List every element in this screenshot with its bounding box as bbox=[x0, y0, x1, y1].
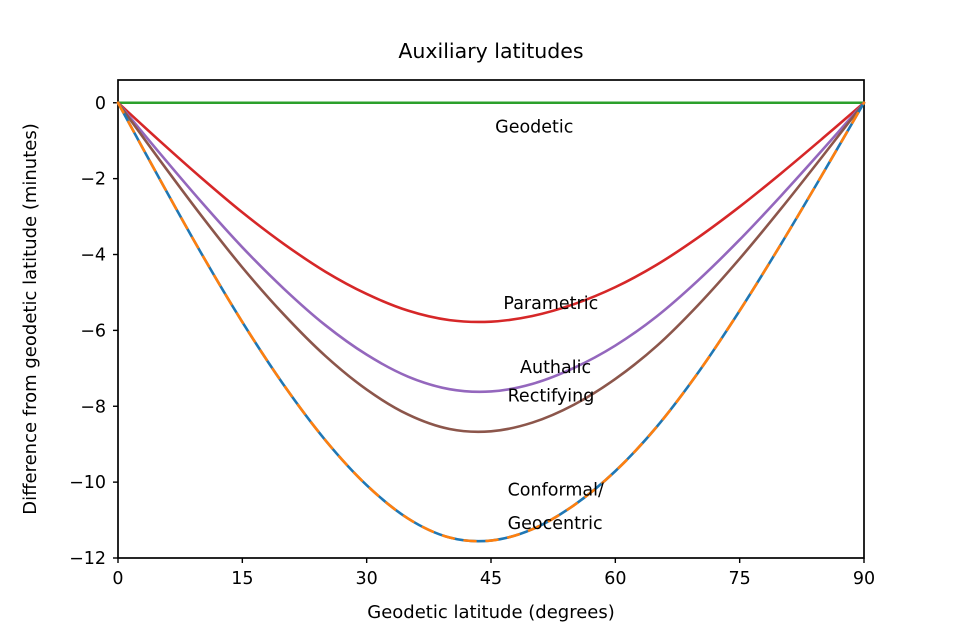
x-tick-label: 30 bbox=[356, 569, 378, 589]
x-tick-label: 90 bbox=[853, 569, 875, 589]
y-axis-label: Difference from geodetic latitude (minut… bbox=[20, 123, 41, 515]
annotation-geodetic: Geodetic bbox=[495, 117, 573, 137]
x-tick-label: 45 bbox=[480, 569, 502, 589]
curve-authalic bbox=[118, 103, 864, 392]
y-tick-label: −10 bbox=[69, 473, 106, 493]
x-tick-label: 60 bbox=[604, 569, 626, 589]
y-tick-label: −4 bbox=[80, 246, 106, 266]
y-tick-label: −6 bbox=[80, 321, 106, 341]
annotation-geocentric: Geocentric bbox=[508, 514, 603, 534]
annotation-authalic: Authalic bbox=[520, 358, 591, 378]
chart-figure: Auxiliary latitudes 01530456075900−2−4−6… bbox=[0, 0, 960, 640]
x-tick-label: 75 bbox=[729, 569, 751, 589]
y-tick-label: −12 bbox=[69, 549, 106, 569]
annotation-rectifying: Rectifying bbox=[508, 387, 595, 407]
x-tick-label: 15 bbox=[231, 569, 253, 589]
annotation-conformal: Conformal/ bbox=[508, 481, 604, 501]
x-tick-label: 0 bbox=[112, 569, 123, 589]
axes: 01530456075900−2−4−6−8−10−12 bbox=[69, 80, 875, 589]
curve-rectifying bbox=[118, 103, 864, 432]
y-tick-label: 0 bbox=[95, 94, 106, 114]
y-tick-label: −2 bbox=[80, 170, 106, 190]
data-curves bbox=[118, 103, 864, 541]
chart-title: Auxiliary latitudes bbox=[398, 39, 583, 63]
x-axis-label: Geodetic latitude (degrees) bbox=[367, 602, 615, 623]
annotation-parametric: Parametric bbox=[503, 294, 598, 314]
y-tick-label: −8 bbox=[80, 397, 106, 417]
auxiliary-latitudes-chart: Auxiliary latitudes 01530456075900−2−4−6… bbox=[0, 0, 960, 640]
curve-annotations: GeodeticParametricAuthalicRectifyingConf… bbox=[495, 117, 604, 534]
